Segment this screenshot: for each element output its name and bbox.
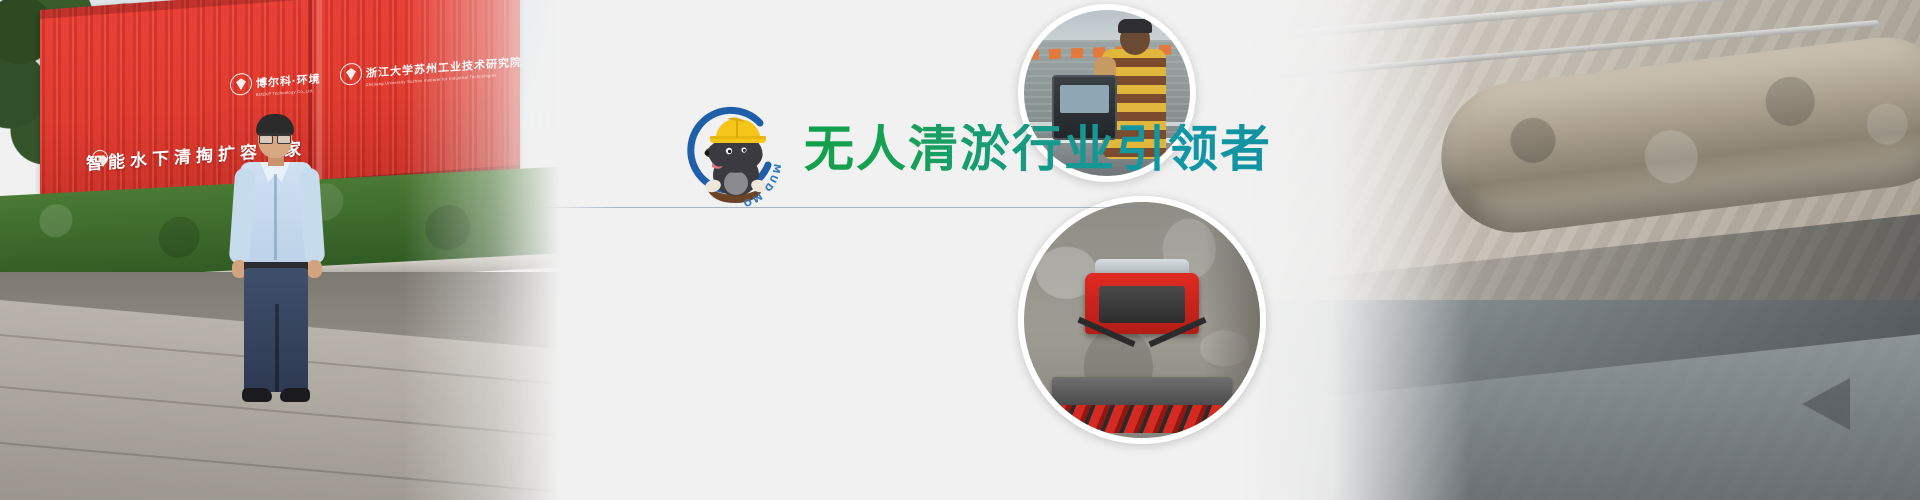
glasses-icon	[259, 133, 291, 142]
mud-mole-logo: MUD MOLE	[682, 103, 788, 209]
figure-placket	[274, 174, 277, 260]
page-title: 无人清淤行业引领者	[804, 124, 1272, 174]
path-joint	[0, 442, 560, 493]
engineer-figure	[228, 118, 324, 418]
figure-trouser-gap	[275, 304, 279, 392]
engineer-and-container-photo: 博尔科·环境 BOEKP Technology Co.,Ltd. 浙江大学苏州工…	[0, 0, 560, 500]
right-photo-collage	[1240, 0, 1920, 500]
hero-banner: 博尔科·环境 BOEKP Technology Co.,Ltd. 浙江大学苏州工…	[0, 0, 1920, 500]
figure-shoe-right	[280, 388, 310, 402]
hero-center-block: MUD MOLE 无人清淤行业引领者	[530, 0, 1170, 500]
figure-hand-right	[307, 260, 322, 278]
container-brand-boerke: 博尔科·环境 BOEKP Technology Co.,Ltd.	[256, 69, 321, 97]
section-divider	[544, 207, 1160, 208]
figure-shoe-left	[242, 388, 272, 402]
left-fade-overlay	[1240, 0, 1470, 500]
arrow-icon	[1802, 378, 1850, 430]
